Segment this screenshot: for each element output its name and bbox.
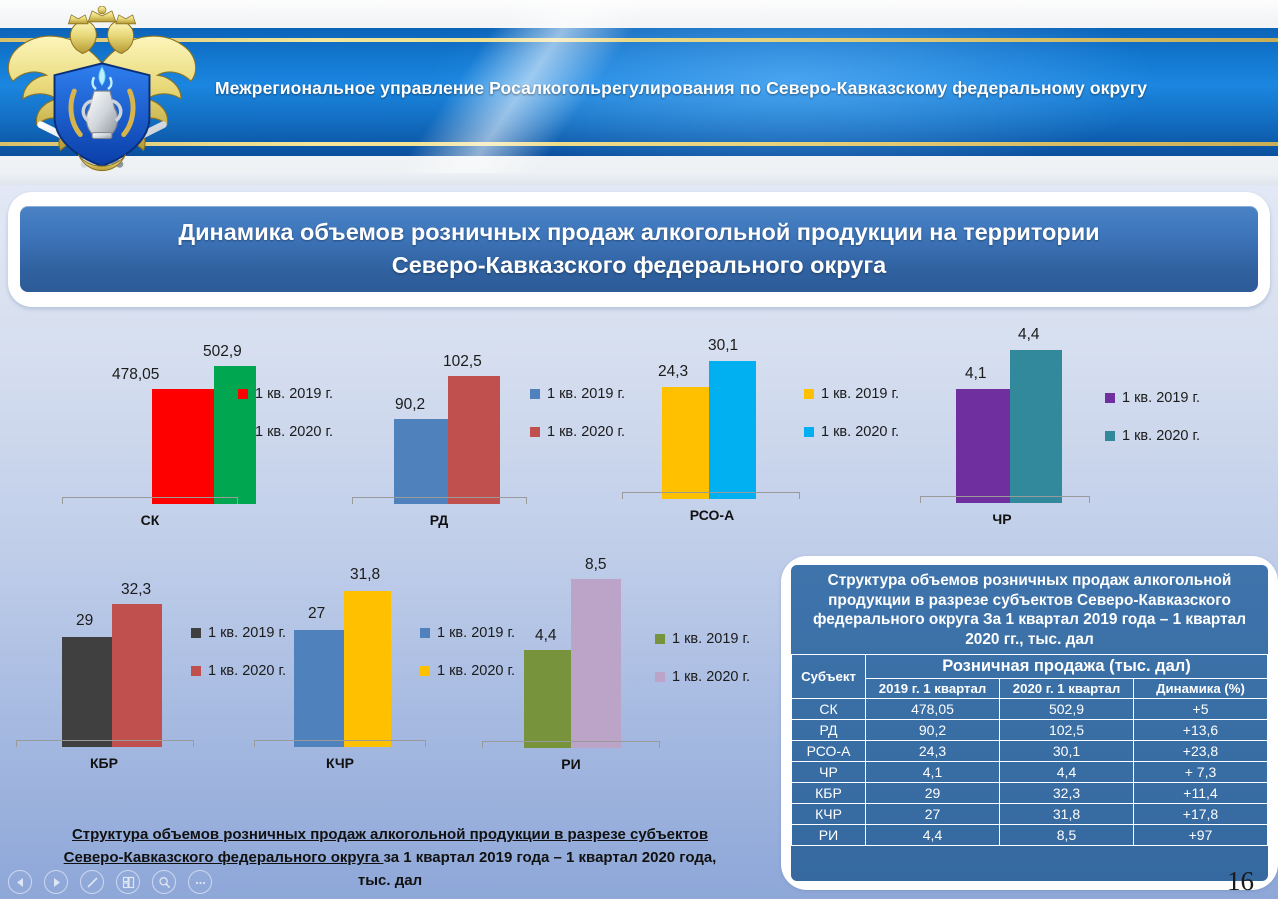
bar-label-rso-2019: 24,3 — [658, 363, 688, 381]
bar-label-sk-2019: 478,05 — [112, 366, 159, 384]
next-slide-button[interactable] — [44, 870, 68, 894]
cell-dynamic: +97 — [1134, 825, 1268, 846]
legend-item-2019: 1 кв. 2019 г. — [655, 631, 750, 647]
slide-title-plaque: Динамика объемов розничных продаж алкого… — [8, 192, 1270, 307]
chart-rd: 90,2 102,5 РД 1 кв. 2019 г. 1 кв. 2020 г… — [340, 344, 640, 534]
ellipsis-icon — [194, 876, 207, 889]
legend-item-2019: 1 кв. 2019 г. — [191, 625, 286, 641]
cell-2019: 90,2 — [866, 720, 1000, 741]
bar-chr-2019 — [956, 389, 1010, 503]
chart-sk: 478,05 502,9 СК 1 кв. 2019 г. 1 кв. 2020… — [52, 344, 352, 534]
cell-2019: 4,1 — [866, 762, 1000, 783]
table-row: КБР 29 32,3 +11,4 — [792, 783, 1268, 804]
cell-dynamic: +11,4 — [1134, 783, 1268, 804]
table-row: РСО-А 24,3 30,1 +23,8 — [792, 741, 1268, 762]
legend-swatch-2020-icon — [804, 427, 814, 437]
triangle-left-icon — [15, 877, 26, 888]
cell-2020: 31,8 — [1000, 804, 1134, 825]
cell-2019: 27 — [866, 804, 1000, 825]
prev-slide-button[interactable] — [8, 870, 32, 894]
table-header-2019: 2019 г. 1 квартал — [866, 679, 1000, 699]
bar-ri-2020 — [571, 579, 621, 748]
cell-2020: 30,1 — [1000, 741, 1134, 762]
slide-title-box: Динамика объемов розничных продаж алкого… — [20, 206, 1258, 292]
legend-item-2020: 1 кв. 2020 г. — [191, 663, 286, 679]
slide-title-line-1: Динамика объемов розничных продаж алкого… — [178, 216, 1099, 249]
legend-item-2019: 1 кв. 2019 г. — [1105, 390, 1200, 406]
bar-label-kbr-2019: 29 — [76, 612, 93, 630]
grid-windows-icon — [122, 876, 135, 889]
legend-swatch-2020-icon — [191, 666, 201, 676]
chart-kchr-axis — [254, 740, 426, 747]
legend-item-2020: 1 кв. 2020 г. — [530, 424, 625, 440]
bar-label-chr-2020: 4,4 — [1018, 326, 1040, 344]
chart-kbr-category: КБР — [14, 755, 194, 771]
chart-rd-legend: 1 кв. 2019 г. 1 кв. 2020 г. — [530, 386, 625, 462]
chart-kchr-category: КЧР — [252, 755, 428, 771]
structure-table-inner: Структура объемов розничных продаж алког… — [791, 565, 1268, 881]
site-header: Межрегиональное управление Росалкогольре… — [0, 0, 1278, 185]
chart-ri-axis — [482, 741, 660, 748]
chart-sk-legend: 1 кв. 2019 г. 1 кв. 2020 г. — [238, 386, 333, 462]
table-row: ЧР 4,1 4,4 + 7,3 — [792, 762, 1268, 783]
bar-label-rd-2019: 90,2 — [395, 396, 425, 414]
cell-dynamic: +13,6 — [1134, 720, 1268, 741]
magnifier-icon — [158, 876, 171, 889]
bar-kchr-2020 — [344, 591, 391, 747]
legend-swatch-2019-icon — [804, 389, 814, 399]
chart-sk-category: СК — [52, 512, 248, 528]
more-options-button[interactable] — [188, 870, 212, 894]
legend-swatch-2019-icon — [191, 628, 201, 638]
cell-2019: 478,05 — [866, 699, 1000, 720]
cell-2020: 502,9 — [1000, 699, 1134, 720]
legend-item-2020: 1 кв. 2020 г. — [238, 424, 333, 440]
bar-rd-2019 — [394, 419, 448, 504]
cell-subject: РСО-А — [792, 741, 866, 762]
header-bottom-strip — [0, 173, 1278, 185]
cell-dynamic: + 7,3 — [1134, 762, 1268, 783]
chart-sk-axis — [62, 497, 238, 504]
chart-rso-a-category: РСО-А — [614, 507, 810, 523]
chart-chr: 4,1 4,4 ЧР 1 кв. 2019 г. 1 кв. 2020 г. — [900, 330, 1200, 535]
legend-swatch-2019-icon — [1105, 393, 1115, 403]
structure-table-card: Структура объемов розничных продаж алког… — [781, 556, 1278, 890]
chart-chr-axis — [920, 496, 1090, 503]
slide-title-line-2: Северо-Кавказского федерального округа — [178, 249, 1099, 282]
chart-kbr-axis — [16, 740, 194, 747]
cell-2020: 102,5 — [1000, 720, 1134, 741]
cell-subject: РИ — [792, 825, 866, 846]
cell-subject: СК — [792, 699, 866, 720]
zoom-button[interactable] — [152, 870, 176, 894]
cell-2020: 4,4 — [1000, 762, 1134, 783]
cell-dynamic: +23,8 — [1134, 741, 1268, 762]
cell-2020: 8,5 — [1000, 825, 1134, 846]
bar-sk-2019 — [152, 389, 214, 504]
chart-rso-a-legend: 1 кв. 2019 г. 1 кв. 2020 г. — [804, 386, 899, 462]
legend-label-2019: 1 кв. 2019 г. — [208, 625, 286, 641]
bar-label-ri-2020: 8,5 — [585, 556, 607, 574]
legend-item-2020: 1 кв. 2020 г. — [804, 424, 899, 440]
bar-label-kchr-2020: 31,8 — [350, 566, 380, 584]
chart-ri-category: РИ — [480, 756, 662, 772]
pen-icon — [86, 876, 99, 889]
presentation-toolbar[interactable] — [8, 868, 228, 896]
legend-item-2019: 1 кв. 2019 г. — [530, 386, 625, 402]
bar-label-sk-2020: 502,9 — [203, 343, 242, 361]
bar-label-chr-2019: 4,1 — [965, 365, 987, 383]
legend-item-2020: 1 кв. 2020 г. — [1105, 428, 1200, 444]
table-row: СК 478,05 502,9 +5 — [792, 699, 1268, 720]
cell-subject: КЧР — [792, 804, 866, 825]
legend-swatch-2020-icon — [420, 666, 430, 676]
bar-kbr-2020 — [112, 604, 162, 747]
legend-label-2019: 1 кв. 2019 г. — [1122, 390, 1200, 406]
slide-overview-button[interactable] — [116, 870, 140, 894]
legend-swatch-2019-icon — [530, 389, 540, 399]
cell-2020: 32,3 — [1000, 783, 1134, 804]
bar-label-kchr-2019: 27 — [308, 605, 325, 623]
chart-chr-category: ЧР — [900, 511, 1104, 527]
bar-chr-2020 — [1010, 350, 1062, 503]
bar-kbr-2019 — [62, 637, 112, 747]
chart-rso-a-axis — [622, 492, 800, 499]
footer-caption-line-1: Структура объемов розничных продаж алког… — [14, 824, 766, 847]
bar-rd-2020 — [448, 376, 500, 504]
bar-label-rso-2020: 30,1 — [708, 337, 738, 355]
footer-caption-line-2b: за 1 квартал 2019 года – 1 квартал 2020 … — [383, 849, 716, 866]
legend-label-2020: 1 кв. 2020 г. — [821, 424, 899, 440]
cell-2019: 29 — [866, 783, 1000, 804]
legend-swatch-2020-icon — [238, 427, 248, 437]
table-header-dynamic: Динамика (%) — [1134, 679, 1268, 699]
bar-rso-2020 — [709, 361, 756, 499]
legend-item-2019: 1 кв. 2019 г. — [804, 386, 899, 402]
page-number: 16 — [1227, 866, 1254, 897]
legend-label-2020: 1 кв. 2020 г. — [672, 669, 750, 685]
legend-swatch-2020-icon — [655, 672, 665, 682]
cell-subject: РД — [792, 720, 866, 741]
cell-dynamic: +5 — [1134, 699, 1268, 720]
structure-table: Субъект Розничная продажа (тыс. дал) 201… — [791, 654, 1268, 846]
bar-label-ri-2019: 4,4 — [535, 627, 557, 645]
chart-ri: 4,4 8,5 РИ 1 кв. 2019 г. 1 кв. 2020 г. — [490, 576, 790, 781]
legend-swatch-2019-icon — [655, 634, 665, 644]
legend-label-2020: 1 кв. 2020 г. — [1122, 428, 1200, 444]
cell-subject: КБР — [792, 783, 866, 804]
chart-kbr-legend: 1 кв. 2019 г. 1 кв. 2020 г. — [191, 625, 286, 701]
chart-rd-axis — [352, 497, 527, 504]
bar-rso-2019 — [662, 387, 709, 499]
legend-label-2020: 1 кв. 2020 г. — [208, 663, 286, 679]
triangle-right-icon — [51, 877, 62, 888]
chart-rso-a: 24,3 30,1 РСО-А 1 кв. 2019 г. 1 кв. 2020… — [614, 344, 914, 534]
footer-caption-line-2a: Северо-Кавказского федерального округа — [64, 849, 384, 866]
cell-2019: 4,4 — [866, 825, 1000, 846]
table-header-subject: Субъект — [792, 655, 866, 699]
cell-subject: ЧР — [792, 762, 866, 783]
organization-title: Межрегиональное управление Росалкогольре… — [215, 78, 1265, 99]
legend-item-2019: 1 кв. 2019 г. — [238, 386, 333, 402]
pen-tool-button[interactable] — [80, 870, 104, 894]
rosalkogolregulirovanie-emblem — [3, 6, 201, 184]
footer-caption-line-2: Северо-Кавказского федерального округа з… — [14, 847, 766, 870]
bar-kchr-2019 — [294, 630, 344, 747]
table-header-group: Розничная продажа (тыс. дал) — [866, 655, 1268, 679]
table-row: РД 90,2 102,5 +13,6 — [792, 720, 1268, 741]
legend-swatch-2019-icon — [420, 628, 430, 638]
legend-item-2020: 1 кв. 2020 г. — [655, 669, 750, 685]
table-header-row-1: Субъект Розничная продажа (тыс. дал) — [792, 655, 1268, 679]
cell-dynamic: +17,8 — [1134, 804, 1268, 825]
table-row: КЧР 27 31,8 +17,8 — [792, 804, 1268, 825]
table-header-2020: 2020 г. 1 квартал — [1000, 679, 1134, 699]
slide-title: Динамика объемов розничных продаж алкого… — [154, 216, 1123, 283]
table-row: РИ 4,4 8,5 +97 — [792, 825, 1268, 846]
legend-label-2020: 1 кв. 2020 г. — [255, 424, 333, 440]
legend-label-2019: 1 кв. 2019 г. — [255, 386, 333, 402]
chart-ri-legend: 1 кв. 2019 г. 1 кв. 2020 г. — [655, 631, 750, 707]
chart-rd-category: РД — [340, 512, 538, 528]
legend-swatch-2020-icon — [1105, 431, 1115, 441]
cell-2019: 24,3 — [866, 741, 1000, 762]
bar-label-rd-2020: 102,5 — [443, 353, 482, 371]
legend-label-2019: 1 кв. 2019 г. — [821, 386, 899, 402]
legend-swatch-2019-icon — [238, 389, 248, 399]
structure-table-caption: Структура объемов розничных продаж алког… — [791, 565, 1268, 654]
legend-swatch-2020-icon — [530, 427, 540, 437]
chart-chr-legend: 1 кв. 2019 г. 1 кв. 2020 г. — [1105, 390, 1200, 466]
bar-label-kbr-2020: 32,3 — [121, 581, 151, 599]
bar-ri-2019 — [524, 650, 571, 748]
legend-label-2019: 1 кв. 2019 г. — [672, 631, 750, 647]
